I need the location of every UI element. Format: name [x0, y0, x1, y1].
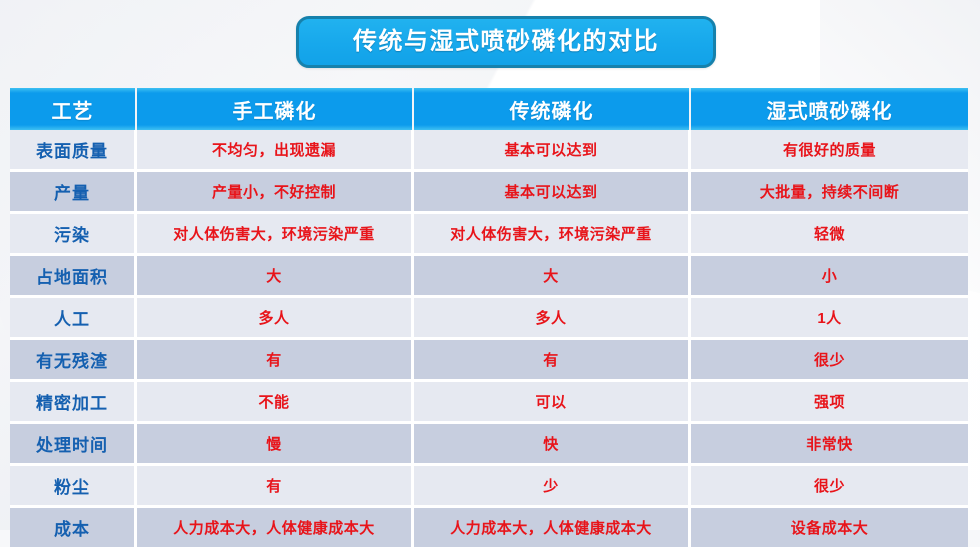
table-cell-value: 有很好的质量 — [691, 130, 968, 172]
table-header-row: 工艺 手工磷化 传统磷化 湿式喷砂磷化 — [10, 88, 968, 130]
table-row-label: 污染 — [10, 214, 137, 256]
table-cell-value: 产量小，不好控制 — [137, 172, 414, 214]
table-cell-value: 对人体伤害大，环境污染严重 — [137, 214, 414, 256]
table-cell-value: 多人 — [137, 298, 414, 340]
table-cell-value: 小 — [691, 256, 968, 298]
table-row-label: 精密加工 — [10, 382, 137, 424]
table-cell-value: 少 — [414, 466, 691, 508]
slide-title-banner: 传统与湿式喷砂磷化的对比 — [296, 16, 716, 68]
table-cell-value: 大 — [137, 256, 414, 298]
table-row-label: 粉尘 — [10, 466, 137, 508]
table-cell-value: 有 — [137, 466, 414, 508]
table-cell-value: 很少 — [691, 340, 968, 382]
comparison-table: 工艺 手工磷化 传统磷化 湿式喷砂磷化 表面质量不均匀，出现遗漏基本可以达到有很… — [10, 88, 968, 547]
table-cell-value: 1人 — [691, 298, 968, 340]
table-cell-value: 有 — [137, 340, 414, 382]
table-header-cell-process: 工艺 — [10, 88, 137, 130]
table-cell-value: 人力成本大，人体健康成本大 — [137, 508, 414, 547]
table-header: 工艺 手工磷化 传统磷化 湿式喷砂磷化 — [10, 88, 968, 130]
table-row: 污染对人体伤害大，环境污染严重对人体伤害大，环境污染严重轻微 — [10, 214, 968, 256]
table-row: 成本人力成本大，人体健康成本大人力成本大，人体健康成本大设备成本大 — [10, 508, 968, 547]
table-cell-value: 基本可以达到 — [414, 130, 691, 172]
table-row-label: 占地面积 — [10, 256, 137, 298]
table-cell-value: 很少 — [691, 466, 968, 508]
table-row-label: 有无残渣 — [10, 340, 137, 382]
table-row: 处理时间慢快非常快 — [10, 424, 968, 466]
table-cell-value: 快 — [414, 424, 691, 466]
table-row-label: 处理时间 — [10, 424, 137, 466]
table-cell-value: 对人体伤害大，环境污染严重 — [414, 214, 691, 256]
table-row: 精密加工不能可以强项 — [10, 382, 968, 424]
table-cell-value: 不能 — [137, 382, 414, 424]
table-cell-value: 有 — [414, 340, 691, 382]
table-cell-value: 可以 — [414, 382, 691, 424]
table-cell-value: 轻微 — [691, 214, 968, 256]
table-header-cell-wetblast: 湿式喷砂磷化 — [691, 88, 968, 130]
slide-title-text: 传统与湿式喷砂磷化的对比 — [353, 30, 659, 54]
table-row: 产量产量小，不好控制基本可以达到大批量，持续不间断 — [10, 172, 968, 214]
table-cell-value: 人力成本大，人体健康成本大 — [414, 508, 691, 547]
table-cell-value: 大批量，持续不间断 — [691, 172, 968, 214]
table-cell-value: 慢 — [137, 424, 414, 466]
table-row-label: 成本 — [10, 508, 137, 547]
table-cell-value: 非常快 — [691, 424, 968, 466]
table-row: 粉尘有少很少 — [10, 466, 968, 508]
table-cell-value: 大 — [414, 256, 691, 298]
table-row: 占地面积大大小 — [10, 256, 968, 298]
table-cell-value: 强项 — [691, 382, 968, 424]
table-cell-value: 设备成本大 — [691, 508, 968, 547]
table-body: 表面质量不均匀，出现遗漏基本可以达到有很好的质量产量产量小，不好控制基本可以达到… — [10, 130, 968, 547]
table-cell-value: 基本可以达到 — [414, 172, 691, 214]
table-row-label: 产量 — [10, 172, 137, 214]
table-header-cell-manual: 手工磷化 — [137, 88, 414, 130]
table-header-cell-traditional: 传统磷化 — [414, 88, 691, 130]
table-cell-value: 多人 — [414, 298, 691, 340]
table-row: 有无残渣有有很少 — [10, 340, 968, 382]
table-row: 人工多人多人1人 — [10, 298, 968, 340]
table-row: 表面质量不均匀，出现遗漏基本可以达到有很好的质量 — [10, 130, 968, 172]
table-row-label: 人工 — [10, 298, 137, 340]
table-cell-value: 不均匀，出现遗漏 — [137, 130, 414, 172]
table-row-label: 表面质量 — [10, 130, 137, 172]
